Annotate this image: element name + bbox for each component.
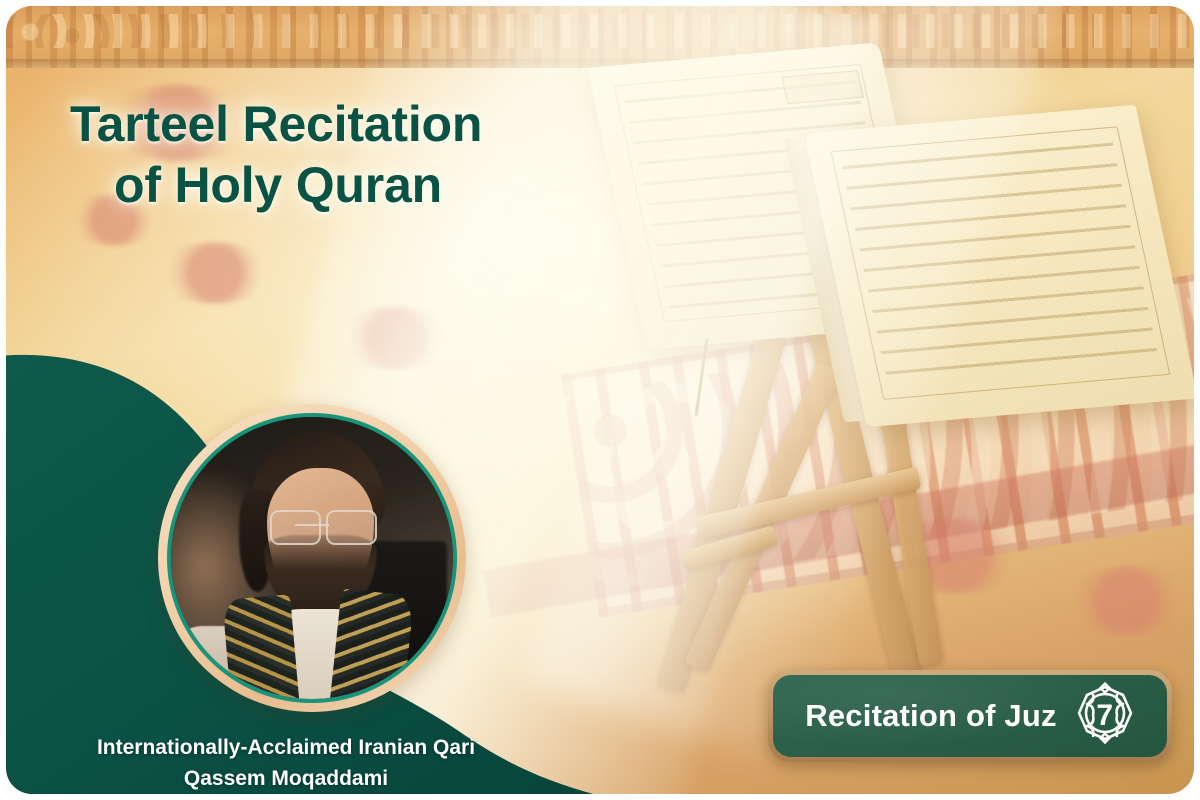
juz-number: 7: [1071, 682, 1139, 750]
avatar-ring: [167, 413, 457, 703]
juz-badge-inner: Recitation of Juz: [773, 675, 1167, 757]
carpet-floral-motif: [156, 242, 274, 304]
page-title: Tarteel Recitation of Holy Quran: [70, 94, 670, 216]
headline-line-2: of Holy Quran: [70, 155, 670, 216]
portrait-vest-right: [328, 588, 414, 699]
glasses-lens-left: [270, 510, 321, 545]
juz-medallion: 7: [1071, 682, 1139, 750]
juz-badge-label: Recitation of Juz: [805, 698, 1056, 734]
portrait-vest-left: [223, 595, 300, 699]
juz-badge[interactable]: Recitation of Juz: [768, 670, 1172, 762]
poster-root: Tarteel Recitation of Holy Quran: [0, 0, 1200, 800]
poster-frame: Tarteel Recitation of Holy Quran: [6, 6, 1194, 794]
carpet-floral-motif: [1062, 566, 1192, 636]
qari-caption: Internationally-Acclaimed Iranian Qari Q…: [6, 732, 566, 794]
caption-line-1: Internationally-Acclaimed Iranian Qari: [6, 732, 566, 763]
avatar: [158, 404, 466, 712]
headline-line-1: Tarteel Recitation: [70, 96, 482, 152]
caption-line-2: Qassem Moqaddami: [6, 763, 566, 794]
qari-portrait-image: [171, 417, 453, 699]
glasses-lens-right: [326, 510, 377, 545]
glasses-bridge: [295, 524, 329, 526]
